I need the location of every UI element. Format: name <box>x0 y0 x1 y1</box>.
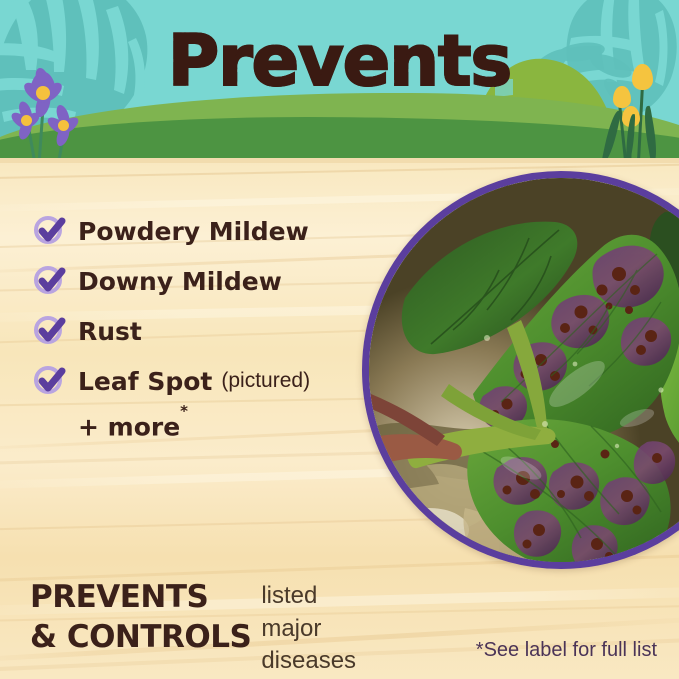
disease-list: Powdery Mildew Downy Mildew Rust Leaf Sp… <box>32 206 392 441</box>
check-icon <box>32 264 66 298</box>
list-item-label: Downy Mildew <box>78 269 282 294</box>
flower-bloom <box>46 108 82 144</box>
list-item: Rust <box>32 306 392 356</box>
page-title-wrapper: Prevents Prevents <box>0 26 679 96</box>
footer-strong-text: PREVENTS & CONTROLS <box>30 578 251 657</box>
more-text: + more <box>78 412 180 441</box>
more-asterisk: * <box>180 402 188 420</box>
page-title-text: Prevents <box>168 20 511 102</box>
product-feature-card: Prevents Prevents Powdery Mildew Downy M… <box>0 0 679 679</box>
tulip-leaf <box>641 106 660 163</box>
page-title: Prevents Prevents <box>168 26 511 96</box>
list-item-label: Leaf Spot <box>78 369 212 394</box>
footer-strong-line-2: & CONTROLS <box>30 618 251 658</box>
tulip-leaf <box>602 110 622 163</box>
check-icon <box>32 314 66 348</box>
footer-light-text: listed major diseases <box>261 578 356 678</box>
disclaimer-text: *See label for full list <box>476 639 657 662</box>
banner-bottom-edge <box>0 158 679 163</box>
footer-claim: PREVENTS & CONTROLS listed major disease… <box>30 578 356 678</box>
list-item-label: Rust <box>78 319 142 344</box>
footer-light-line-2: major <box>261 613 356 646</box>
list-item: Powdery Mildew <box>32 206 392 256</box>
check-icon <box>32 364 66 398</box>
flower-bloom <box>10 104 44 138</box>
list-item-label: Powdery Mildew <box>78 219 309 244</box>
footer-light-line-3: diseases <box>261 645 356 678</box>
check-icon <box>32 214 66 248</box>
strawberry-leaf-illustration <box>369 178 679 562</box>
list-item-note: (pictured) <box>221 369 310 393</box>
list-item: Leaf Spot (pictured) <box>32 356 392 406</box>
footer-strong-line-1: PREVENTS <box>30 578 251 618</box>
disease-photo <box>369 178 679 562</box>
footer-light-line-1: listed <box>261 580 356 613</box>
list-item: Downy Mildew <box>32 256 392 306</box>
more-label: + more* <box>78 412 392 441</box>
